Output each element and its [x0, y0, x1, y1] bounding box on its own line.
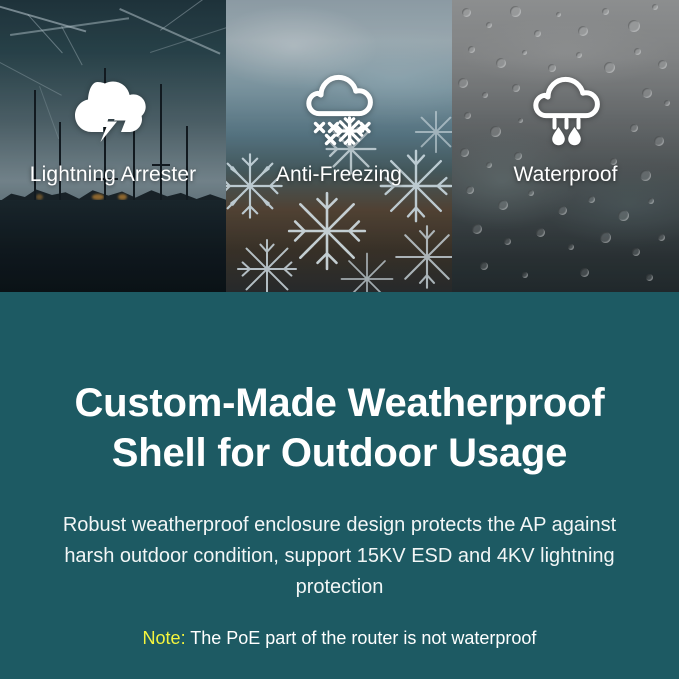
feature-panel-lightning-arrester: Lightning Arrester	[0, 0, 226, 292]
page-title: Custom-Made Weatherproof Shell for Outdo…	[0, 378, 679, 478]
cloud-rain-icon	[452, 62, 679, 158]
cloud-lightning-icon	[0, 62, 226, 158]
note-keyword: Note:	[143, 628, 186, 648]
weatherproof-feature-poster: Lightning Arrester	[0, 0, 679, 679]
note-line: Note: The PoE part of the router is not …	[0, 628, 679, 649]
description-text: Robust weatherproof enclosure design pro…	[56, 510, 623, 603]
cloud-snow-icon	[226, 62, 452, 158]
note-body: The PoE part of the router is not waterp…	[186, 628, 537, 648]
panel-label-lightning-arrester: Lightning Arrester	[0, 163, 226, 187]
headline-line-2: Shell for Outdoor Usage	[0, 428, 679, 478]
feature-panel-anti-freezing: Anti-Freezing	[226, 0, 452, 292]
marketing-copy-block: Custom-Made Weatherproof Shell for Outdo…	[0, 292, 679, 679]
panel-label-waterproof: Waterproof	[452, 163, 679, 187]
headline-line-1: Custom-Made Weatherproof	[0, 378, 679, 428]
panel-label-anti-freezing: Anti-Freezing	[226, 163, 452, 187]
feature-panel-waterproof: Waterproof	[452, 0, 679, 292]
feature-panel-strip: Lightning Arrester	[0, 0, 679, 292]
